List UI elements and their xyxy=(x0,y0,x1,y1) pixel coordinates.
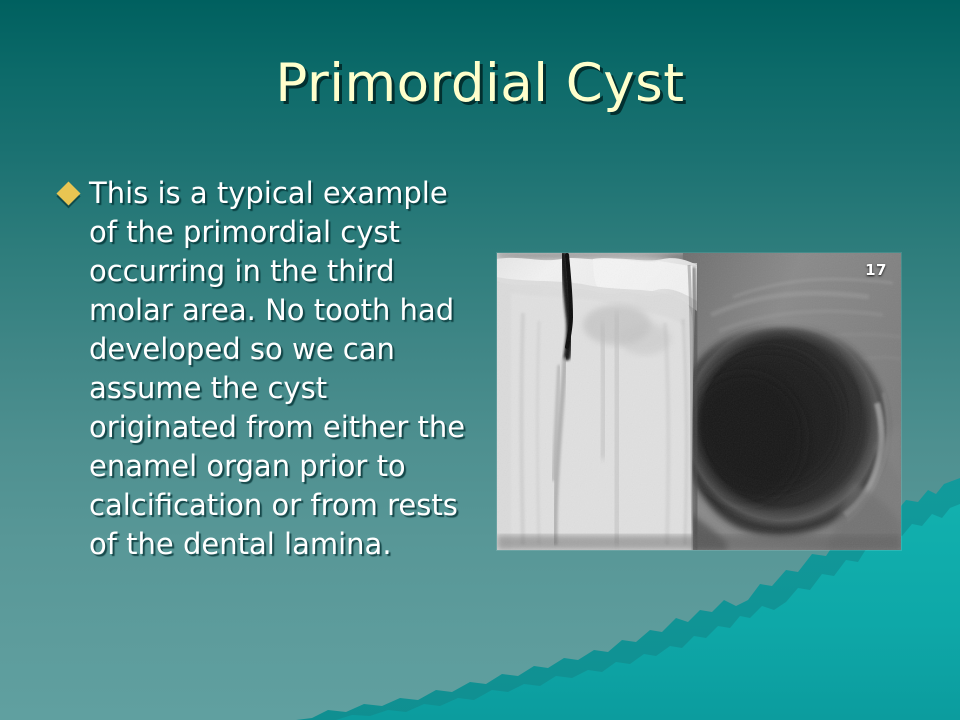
dental-radiograph-image: 17 xyxy=(497,253,901,550)
slide: Primordial Cyst This is a typical exampl… xyxy=(0,0,960,720)
bullet-text: This is a typical example of the primord… xyxy=(89,174,470,564)
diamond-bullet-icon xyxy=(56,181,80,205)
list-item: This is a typical example of the primord… xyxy=(60,174,470,564)
radiograph-corner-label: 17 xyxy=(865,261,887,279)
body-content: This is a typical example of the primord… xyxy=(60,174,470,564)
slide-title: Primordial Cyst xyxy=(0,56,960,112)
radiograph-graphic xyxy=(497,253,901,550)
